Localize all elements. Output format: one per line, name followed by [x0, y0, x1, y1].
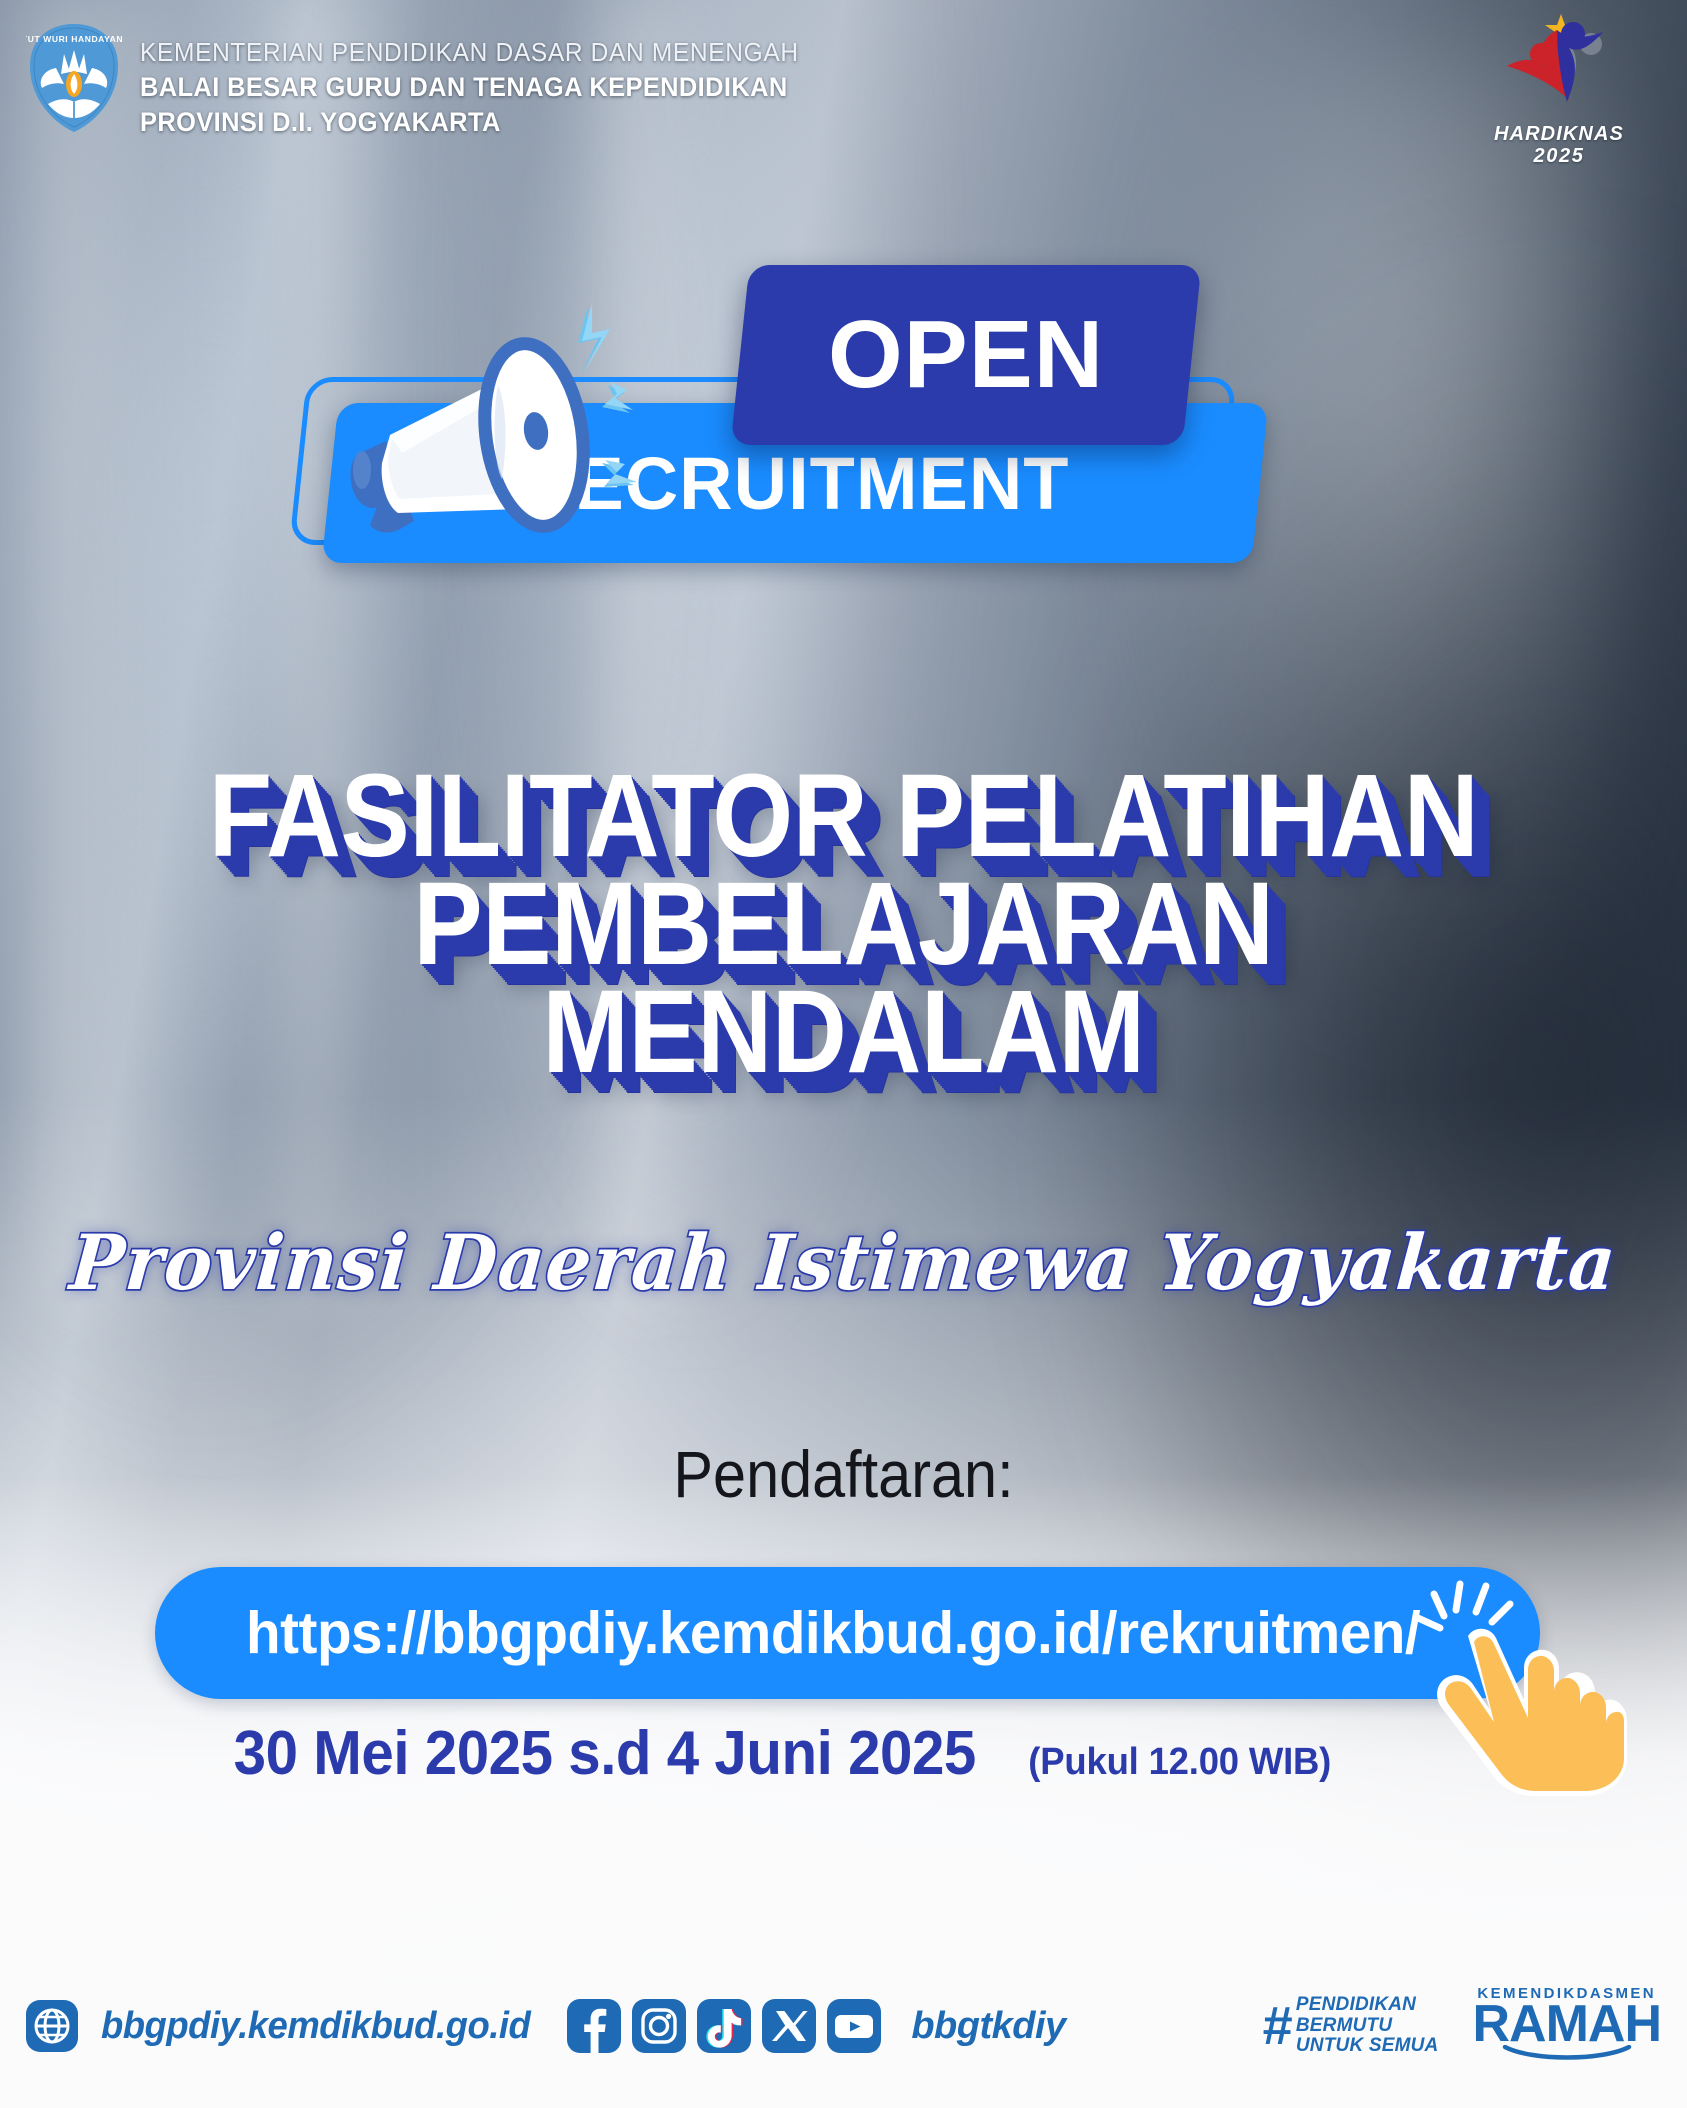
- institution-name: BALAI BESAR GURU DAN TENAGA KEPENDIDIKAN: [140, 71, 799, 104]
- open-recruitment-banner-group: RECRUITMENT OPEN: [0, 255, 1687, 555]
- background-streak-2: [287, 0, 405, 1307]
- social-links: [567, 1999, 881, 2053]
- registration-date-range: 30 Mei 2025 s.d 4 Juni 2025: [234, 1718, 976, 1789]
- institution-header: TUT WURI HANDAYANI KEMENTERIAN PENDIDIKA…: [26, 18, 826, 139]
- tut-wuri-handayani-logo: TUT WURI HANDAYANI: [26, 22, 122, 134]
- province-subtitle: Provinsi Daerah Istimewa Yogyakarta: [47, 1218, 1640, 1307]
- youtube-icon[interactable]: [827, 1999, 881, 2053]
- megaphone-icon: [330, 235, 660, 545]
- pendidikan-bermutu-logo: # PENDIDIKAN BERMUTU UNTUK SEMUA: [1262, 1995, 1439, 2058]
- hardiknas-logo: HARDIKNAS 2025: [1469, 8, 1649, 167]
- footer-bar: bbgpdiy.kemdikbud.go.id: [0, 1958, 1687, 2108]
- registration-label: Pendaftaran:: [84, 1436, 1602, 1512]
- open-label: OPEN: [828, 300, 1104, 410]
- background-streak-3: [607, 0, 708, 1307]
- page-title: FASILITATOR PELATIHAN PEMBELAJARAN MENDA…: [0, 760, 1687, 1088]
- campaign-line-1: PENDIDIKAN: [1296, 1995, 1439, 2016]
- title-line-2: PEMBELAJARAN: [101, 868, 1586, 980]
- background-streak-1: [34, 0, 186, 1307]
- registration-url-pill[interactable]: https://bbgpdiy.kemdikbud.go.id/rekruitm…: [155, 1567, 1540, 1699]
- footer-website[interactable]: bbgpdiy.kemdikbud.go.id: [101, 2005, 530, 2048]
- hardiknas-label: HARDIKNAS: [1469, 124, 1649, 145]
- campaign-lines: PENDIDIKAN BERMUTU UNTUK SEMUA: [1296, 1995, 1439, 2058]
- footer-campaign-logos: # PENDIDIKAN BERMUTU UNTUK SEMUA KEMENDI…: [1262, 1986, 1661, 2067]
- registration-url[interactable]: https://bbgpdiy.kemdikbud.go.id/rekruitm…: [246, 1599, 1449, 1667]
- hardiknas-figures-icon: [1495, 8, 1623, 126]
- poster-canvas: TUT WURI HANDAYANI KEMENTERIAN PENDIDIKA…: [0, 0, 1687, 2108]
- title-line-3: MENDALAM: [101, 976, 1586, 1088]
- x-twitter-icon[interactable]: [762, 1999, 816, 2053]
- ramah-arc-icon: [1502, 2045, 1632, 2061]
- footer-social-handle[interactable]: bbgtkdiy: [911, 2005, 1065, 2048]
- globe-icon[interactable]: [26, 2000, 78, 2052]
- hardiknas-year: 2025: [1469, 145, 1649, 167]
- open-banner: OPEN: [731, 265, 1202, 445]
- title-line-1: FASILITATOR PELATIHAN: [101, 760, 1586, 872]
- facebook-icon[interactable]: [567, 1999, 621, 2053]
- registration-time-note: (Pukul 12.00 WIB): [1028, 1741, 1331, 1784]
- province-name: PROVINSI D.I. YOGYAKARTA: [140, 106, 799, 139]
- campaign-line-3: UNTUK SEMUA: [1296, 2036, 1439, 2057]
- tiktok-icon[interactable]: [697, 1999, 751, 2053]
- kemendikdasmen-ramah-logo: KEMENDIKDASMEN RAMAH: [1472, 1986, 1661, 2067]
- hash-icon: #: [1262, 1999, 1290, 2053]
- ministry-name: KEMENTERIAN PENDIDIKAN DASAR DAN MENENGA…: [140, 38, 799, 69]
- ramah-main-label: RAMAH: [1472, 2001, 1661, 2049]
- svg-text:TUT WURI HANDAYANI: TUT WURI HANDAYANI: [26, 34, 122, 44]
- campaign-line-2: BERMUTU: [1296, 2016, 1439, 2037]
- instagram-icon[interactable]: [632, 1999, 686, 2053]
- pointing-hand-icon: [1412, 1572, 1627, 1797]
